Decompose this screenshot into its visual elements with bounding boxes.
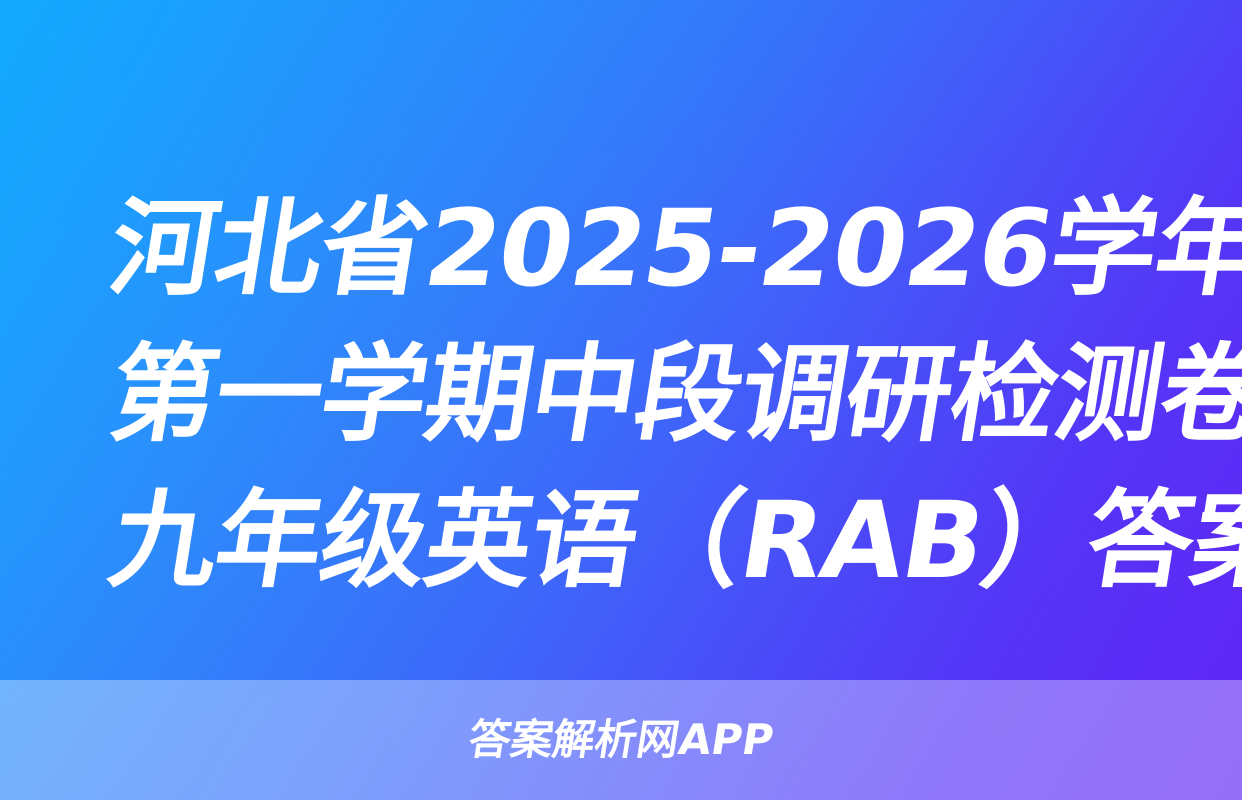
exam-answer-poster: 河北省2025-2026学年 第一学期中段调研检测卷 九年级英语（RAB）答案 … [0, 0, 1242, 800]
title-line-3: 九年级英语（RAB）答案 [100, 468, 1191, 614]
title-line-1: 河北省2025-2026学年 [100, 176, 1191, 322]
title-line-2: 第一学期中段调研检测卷 [100, 322, 1191, 468]
footer-brand-label: 答案解析网APP [466, 719, 777, 761]
footer-brand-band: 答案解析网APP [0, 680, 1242, 800]
page-title: 河北省2025-2026学年 第一学期中段调研检测卷 九年级英语（RAB）答案 [0, 176, 1242, 614]
